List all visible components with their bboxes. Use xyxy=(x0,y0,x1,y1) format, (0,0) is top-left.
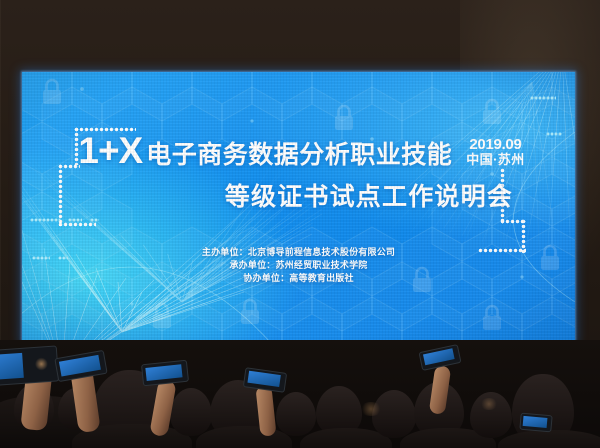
conference-photo-scene: 1+X 电子商务数据分析职业技能 2019.09 中国·苏州 等级证书试点工作说… xyxy=(0,0,600,448)
audience-shoulder xyxy=(196,426,292,448)
phone-screen xyxy=(59,355,101,377)
audience-head xyxy=(276,392,316,436)
camera-lens-icon xyxy=(34,357,48,371)
audience-highlight xyxy=(480,398,498,410)
audience-shoulder xyxy=(498,430,600,448)
phone-device xyxy=(519,413,552,433)
camera-device xyxy=(0,345,59,386)
led-pixel-grid xyxy=(22,72,575,344)
audience-highlight xyxy=(360,402,382,416)
audience-silhouettes xyxy=(0,340,600,448)
audience-head xyxy=(170,388,212,436)
led-presentation-screen: 1+X 电子商务数据分析职业技能 2019.09 中国·苏州 等级证书试点工作说… xyxy=(22,72,575,344)
phone-screen xyxy=(247,371,280,387)
phone-screen xyxy=(523,416,548,428)
phone-screen xyxy=(145,364,182,381)
phone-device xyxy=(141,360,189,387)
phone-device xyxy=(418,344,461,371)
phone-screen xyxy=(423,348,455,365)
camera-screen xyxy=(0,353,24,380)
phone-device xyxy=(54,350,107,382)
